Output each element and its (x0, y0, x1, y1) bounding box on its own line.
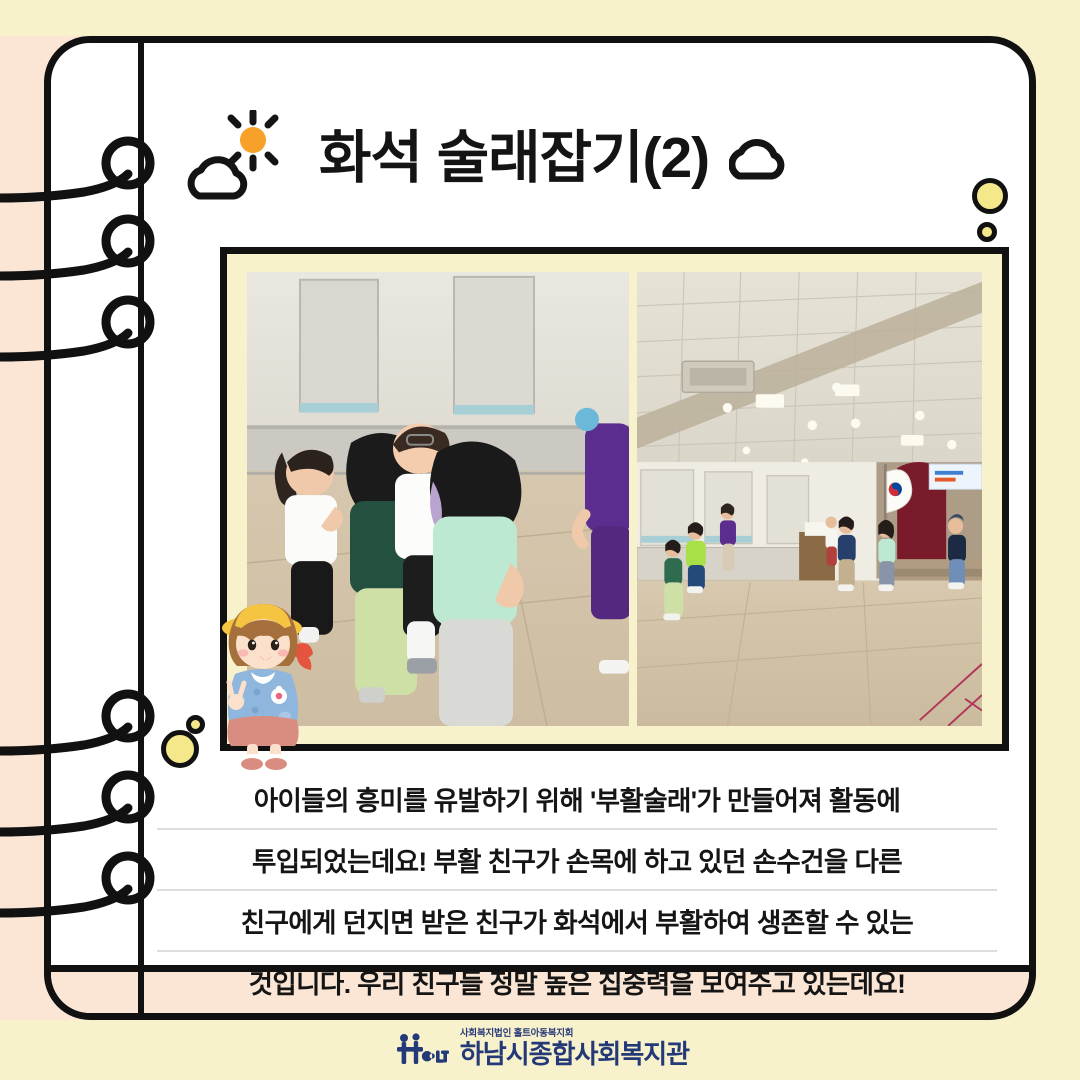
page-title: 화석 술래잡기(2) (319, 130, 709, 187)
holt-logo-icon (391, 1031, 449, 1065)
decor-dot-large-left (161, 730, 199, 768)
footer-text-group: 사회복지법인 홀트아동복지회 하남시종합사회복지관 (460, 1029, 689, 1067)
poster-page: 아이들의 흥미를 유발하기 위해 '부활술래'가 만들어져 활동에 투입되었는데… (0, 0, 1080, 1080)
cloud-icon (191, 160, 244, 196)
sun-icon (231, 112, 275, 168)
decor-dot-small-top-right (977, 222, 997, 242)
title-row: 화석 술래잡기(2) (187, 103, 987, 213)
body-text-block: 아이들의 흥미를 유발하기 위해 '부활술래'가 만들어져 활동에 투입되었는데… (157, 769, 997, 1011)
body-line-3: 친구에게 던지면 받은 친구가 화석에서 부활하여 생존할 수 있는 (157, 889, 997, 950)
notebook-margin-rule (138, 43, 144, 1013)
girl-peace-sign-sticker (205, 592, 325, 770)
footer-org-sub: 사회복지법인 홀트아동복지회 (460, 1029, 573, 1039)
decor-dot-large-top-right (972, 178, 1008, 214)
decor-dot-small-left (186, 715, 205, 734)
body-line-2: 투입되었는데요! 부활 친구가 손목에 하고 있던 손수건을 다른 (157, 828, 997, 889)
body-line-4: 것입니다. 우리 친구들 정말 높은 집중력을 보여주고 있는데요! (157, 950, 997, 1011)
cloud-icon-right (729, 130, 807, 186)
photo-hall-wide (637, 272, 982, 726)
sun-cloud-icon-group (187, 110, 305, 206)
body-line-1: 아이들의 흥미를 유발하기 위해 '부활술래'가 만들어져 활동에 (157, 769, 997, 828)
notebook-card: 아이들의 흥미를 유발하기 위해 '부활술래'가 만들어져 활동에 투입되었는데… (44, 36, 1036, 1020)
photo-frame (220, 247, 1009, 751)
footer-logo: 사회복지법인 홀트아동복지회 하남시종합사회복지관 (0, 1020, 1080, 1076)
footer-org-name: 하남시종합사회복지관 (460, 1041, 689, 1067)
photo-right-illustration (637, 272, 982, 726)
